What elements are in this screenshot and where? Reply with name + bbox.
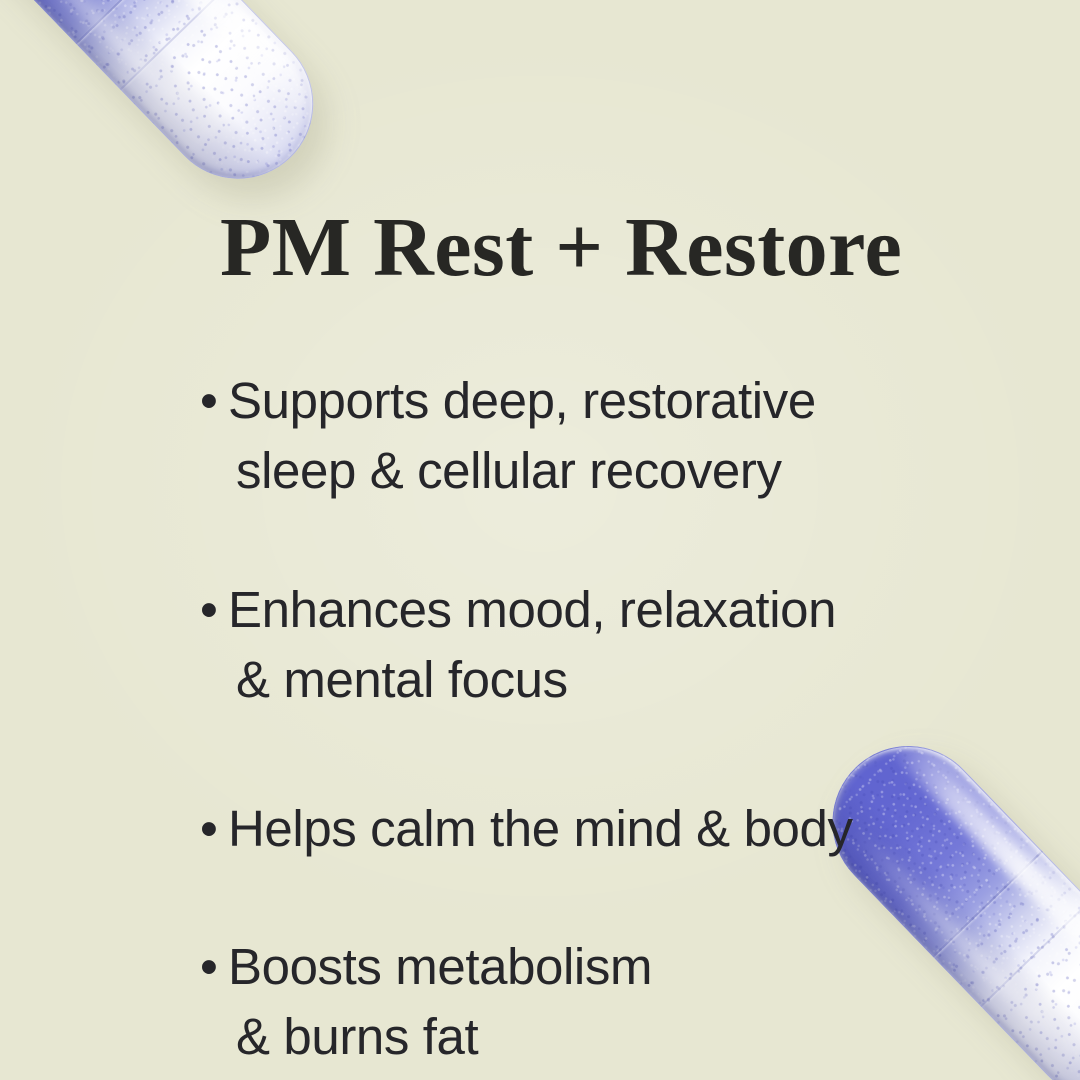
benefit-line-2: & burns fat: [228, 1002, 926, 1072]
bullet-icon: •: [200, 794, 217, 864]
benefit-list-item: • Supports deep, restorative sleep & cel…: [196, 366, 926, 507]
page-title: PM Rest + Restore: [220, 206, 926, 290]
benefit-list-item: • Enhances mood, relaxation & mental foc…: [196, 575, 926, 716]
benefit-line-1: Boosts metabolism: [228, 938, 652, 995]
benefit-line-2: & mental focus: [228, 645, 926, 715]
benefit-line-2: sleep & cellular recovery: [228, 436, 926, 506]
content-block: PM Rest + Restore • Supports deep, resto…: [196, 206, 926, 1073]
product-benefits-card: PM Rest + Restore • Supports deep, resto…: [0, 0, 1080, 1080]
bullet-icon: •: [200, 575, 217, 645]
benefit-list-item: • Helps calm the mind & body: [196, 794, 926, 864]
benefits-list: • Supports deep, restorative sleep & cel…: [196, 366, 926, 1073]
bullet-icon: •: [200, 932, 217, 1002]
benefit-line-1: Enhances mood, relaxation: [228, 581, 836, 638]
bullet-icon: •: [200, 366, 217, 436]
benefit-list-item: • Boosts metabolism & burns fat: [196, 932, 926, 1073]
benefit-line-1: Helps calm the mind & body: [228, 800, 853, 857]
benefit-line-1: Supports deep, restorative: [228, 372, 816, 429]
